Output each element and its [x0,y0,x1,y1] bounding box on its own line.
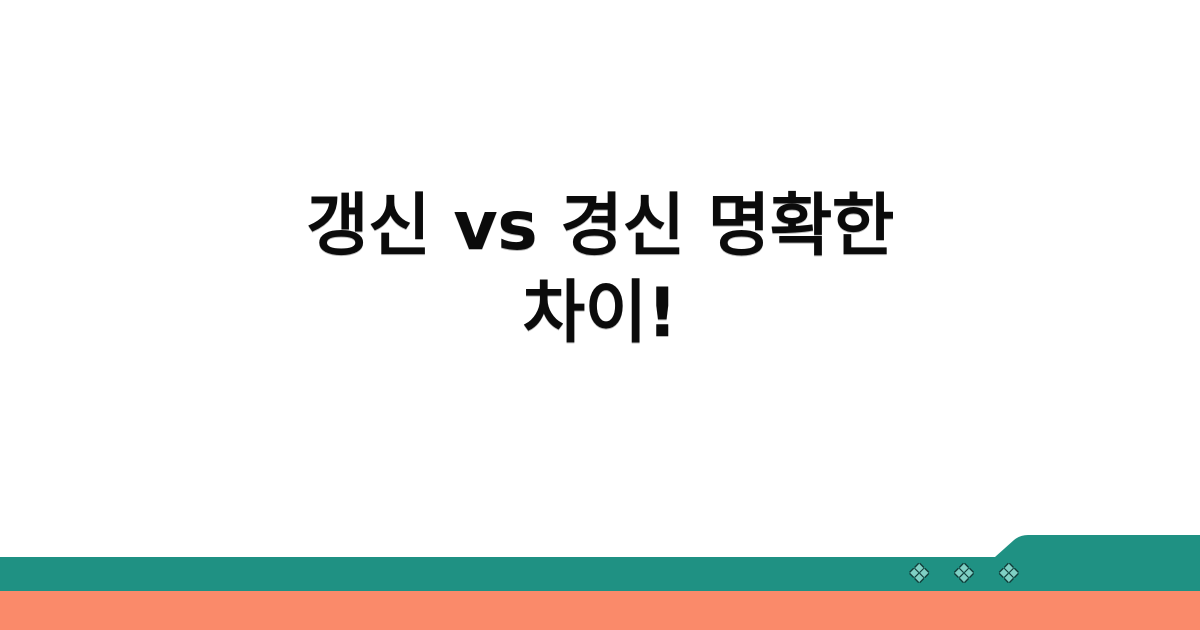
coral-band [0,591,1200,630]
thumbnail-card: 갱신 vs 경신 명확한 차이! ❖ ❖ ❖ [0,0,1200,630]
title-block: 갱신 vs 경신 명확한 차이! [0,0,1200,540]
page-title: 갱신 vs 경신 명확한 차이! [270,183,930,357]
footer-decoration [0,535,1200,630]
teal-band [0,535,1200,591]
